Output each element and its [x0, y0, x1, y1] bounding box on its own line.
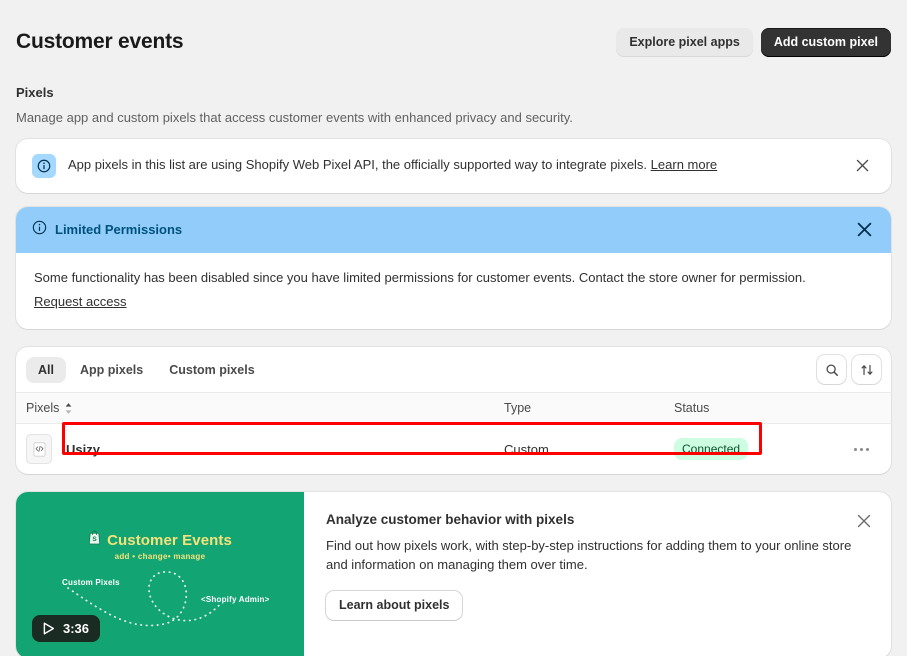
close-icon [857, 514, 871, 528]
learn-more-link[interactable]: Learn more [651, 157, 717, 172]
tab-all[interactable]: All [26, 357, 66, 384]
table-header-row: Pixels Type Status [16, 392, 891, 424]
limited-permissions-message: Some functionality has been disabled sin… [34, 269, 873, 288]
info-banner-message: App pixels in this list are using Shopif… [68, 157, 647, 172]
promo-brand-row: S Customer Events [16, 530, 304, 550]
limited-permissions-body: Some functionality has been disabled sin… [16, 253, 891, 330]
search-icon [825, 363, 839, 377]
column-header-type: Type [504, 401, 674, 415]
table-toolbar: All App pixels Custom pixels [16, 347, 891, 392]
close-icon [857, 222, 872, 237]
limited-permissions-header: Limited Permissions [16, 207, 891, 253]
pixel-filter-tabs: All App pixels Custom pixels [26, 357, 267, 384]
section-label: Pixels [16, 85, 891, 100]
pixel-type: Custom [504, 442, 674, 457]
warning-info-icon [32, 220, 47, 240]
column-header-status: Status [674, 401, 875, 415]
promo-video-thumbnail[interactable]: S Customer Events add • change• manage C… [16, 492, 304, 656]
table-row[interactable]: Usizy Custom Connected [16, 424, 891, 474]
status-badge-cell: Connected [674, 438, 847, 460]
header-actions: Explore pixel apps Add custom pixel [616, 28, 891, 57]
page-header: Customer events Explore pixel apps Add c… [16, 0, 891, 63]
sort-caret-icon [64, 402, 73, 415]
table-tools [817, 355, 881, 384]
app-pixels-info-banner: App pixels in this list are using Shopif… [16, 139, 891, 193]
limited-permissions-close-button[interactable] [851, 217, 877, 243]
status-badge: Connected [674, 438, 748, 460]
svg-text:S: S [92, 537, 97, 544]
tab-custom-pixels[interactable]: Custom pixels [157, 357, 266, 384]
column-header-pixels[interactable]: Pixels [26, 401, 504, 415]
pixels-promo-card: S Customer Events add • change• manage C… [16, 492, 891, 656]
customer-events-page: Customer events Explore pixel apps Add c… [0, 0, 907, 656]
play-video-button[interactable]: 3:36 [32, 615, 100, 642]
info-circle-icon [32, 154, 56, 178]
add-custom-pixel-button[interactable]: Add custom pixel [761, 28, 891, 57]
promo-close-button[interactable] [851, 508, 877, 534]
promo-body: Analyze customer behavior with pixels Fi… [304, 492, 891, 656]
sort-button[interactable] [852, 355, 881, 384]
limited-permissions-title: Limited Permissions [55, 222, 843, 237]
column-header-pixels-label: Pixels [26, 401, 59, 415]
promo-label-custom-pixels: Custom Pixels [62, 578, 120, 587]
page-title: Customer events [16, 30, 183, 54]
sort-icon [860, 363, 874, 377]
request-access-link[interactable]: Request access [34, 294, 127, 309]
more-horizontal-icon [854, 448, 869, 451]
promo-brand-title: Customer Events [107, 532, 232, 549]
promo-label-shopify-admin: <Shopify Admin> [201, 595, 270, 604]
pixel-name[interactable]: Usizy [66, 442, 504, 457]
learn-about-pixels-button[interactable]: Learn about pixels [326, 591, 462, 620]
pixels-table-card: All App pixels Custom pixels [16, 347, 891, 474]
section-description: Manage app and custom pixels that access… [16, 110, 891, 125]
row-more-actions-button[interactable] [847, 435, 875, 463]
promo-description: Find out how pixels work, with step-by-s… [326, 537, 856, 575]
play-icon [41, 621, 56, 636]
info-banner-close-button[interactable] [849, 153, 875, 179]
explore-pixel-apps-button[interactable]: Explore pixel apps [616, 28, 752, 57]
shopify-bag-icon: S [88, 530, 101, 550]
info-banner-text: App pixels in this list are using Shopif… [68, 156, 837, 174]
close-icon [856, 159, 869, 172]
promo-title: Analyze customer behavior with pixels [326, 512, 871, 527]
video-duration: 3:36 [63, 621, 89, 636]
pixel-code-icon [26, 434, 52, 464]
search-button[interactable] [817, 355, 846, 384]
tab-app-pixels[interactable]: App pixels [68, 357, 155, 384]
limited-permissions-banner: Limited Permissions Some functionality h… [16, 207, 891, 330]
